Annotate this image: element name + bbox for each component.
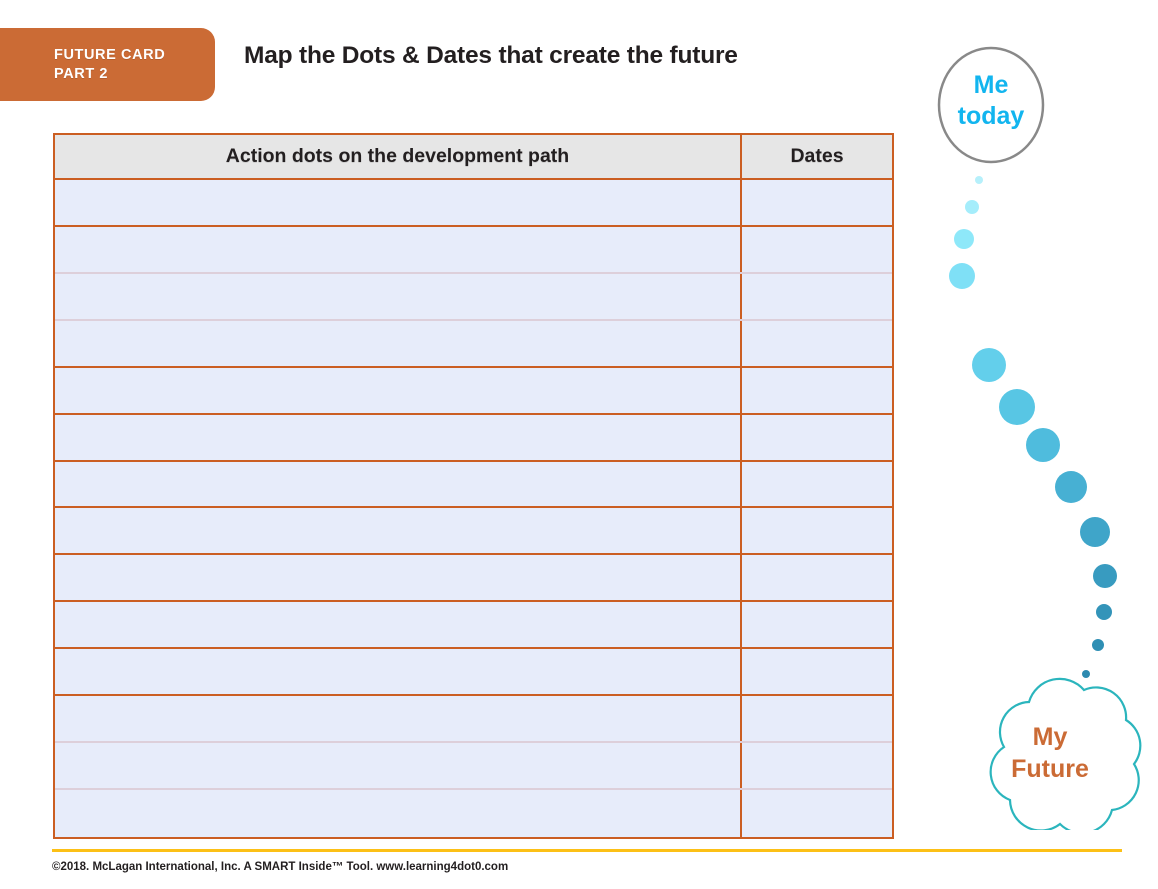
table-header-cell-dates: Dates [742,135,892,178]
path-dot-13 [1082,670,1090,678]
table-cell-action[interactable] [55,227,742,272]
page-title: Map the Dots & Dates that create the fut… [244,42,738,70]
path-dot-3 [954,229,974,249]
table-cell-date[interactable] [742,462,892,507]
path-dot-8 [1055,471,1087,503]
table-cell-action[interactable] [55,649,742,694]
table-cell-action[interactable] [55,555,742,600]
path-dot-9 [1080,517,1110,547]
footer-copyright: ©2018. McLagan International, Inc. A SMA… [52,861,508,873]
action-dots-table: Action dots on the development path Date… [53,133,894,839]
path-dot-5 [972,348,1006,382]
table-cell-date[interactable] [742,696,892,741]
path-dot-1 [975,176,983,184]
table-cell-action[interactable] [55,790,742,837]
table-cell-action[interactable] [55,274,742,319]
future-card-tab: FUTURE CARD PART 2 [0,28,215,101]
path-dot-10 [1093,564,1117,588]
dot-trail [949,176,1117,678]
path-dot-2 [965,200,979,214]
future-card-tab-line2: PART 2 [54,65,215,84]
table-cell-action[interactable] [55,462,742,507]
table-cell-action[interactable] [55,602,742,647]
table-cell-date[interactable] [742,555,892,600]
table-row[interactable] [55,462,892,509]
table-cell-date[interactable] [742,790,892,837]
table-cell-action[interactable] [55,180,742,225]
table-row[interactable] [55,508,892,555]
table-header-label-action: Action dots on the development path [226,145,569,168]
table-header-label-dates: Dates [790,145,843,168]
path-dot-4 [949,263,975,289]
future-card-tab-line1: FUTURE CARD [54,46,215,65]
path-dot-6 [999,389,1035,425]
table-cell-action[interactable] [55,696,742,741]
table-header-row: Action dots on the development path Date… [55,135,892,180]
table-row[interactable] [55,743,892,790]
path-dot-11 [1096,604,1112,620]
my-future-line1: My [1033,723,1068,751]
table-cell-date[interactable] [742,227,892,272]
table-cell-date[interactable] [742,274,892,319]
table-cell-action[interactable] [55,368,742,413]
table-row[interactable] [55,602,892,649]
table-cell-date[interactable] [742,415,892,460]
table-cell-date[interactable] [742,602,892,647]
me-today-line2: today [958,102,1025,130]
table-row[interactable] [55,321,892,368]
table-cell-date[interactable] [742,649,892,694]
table-body [55,180,892,837]
table-cell-date[interactable] [742,743,892,788]
table-cell-date[interactable] [742,508,892,553]
path-dot-12 [1092,639,1104,651]
me-today-line1: Me [974,71,1009,99]
table-cell-date[interactable] [742,368,892,413]
table-row[interactable] [55,415,892,462]
my-future-bubble: My Future [991,679,1141,830]
table-cell-date[interactable] [742,180,892,225]
development-path-graphic: Me today My Future [905,30,1158,830]
path-dot-7 [1026,428,1060,462]
table-row[interactable] [55,227,892,274]
table-row[interactable] [55,649,892,696]
table-row[interactable] [55,696,892,743]
my-future-line2: Future [1011,755,1089,783]
table-row[interactable] [55,790,892,837]
table-row[interactable] [55,180,892,227]
me-today-bubble: Me today [939,48,1043,162]
footer-divider [52,849,1122,852]
table-row[interactable] [55,555,892,602]
table-cell-action[interactable] [55,415,742,460]
table-cell-action[interactable] [55,508,742,553]
table-row[interactable] [55,274,892,321]
table-cell-date[interactable] [742,321,892,366]
table-row[interactable] [55,368,892,415]
worksheet-page: FUTURE CARD PART 2 Map the Dots & Dates … [0,0,1158,889]
table-cell-action[interactable] [55,321,742,366]
table-cell-action[interactable] [55,743,742,788]
table-header-cell-action: Action dots on the development path [55,135,742,178]
